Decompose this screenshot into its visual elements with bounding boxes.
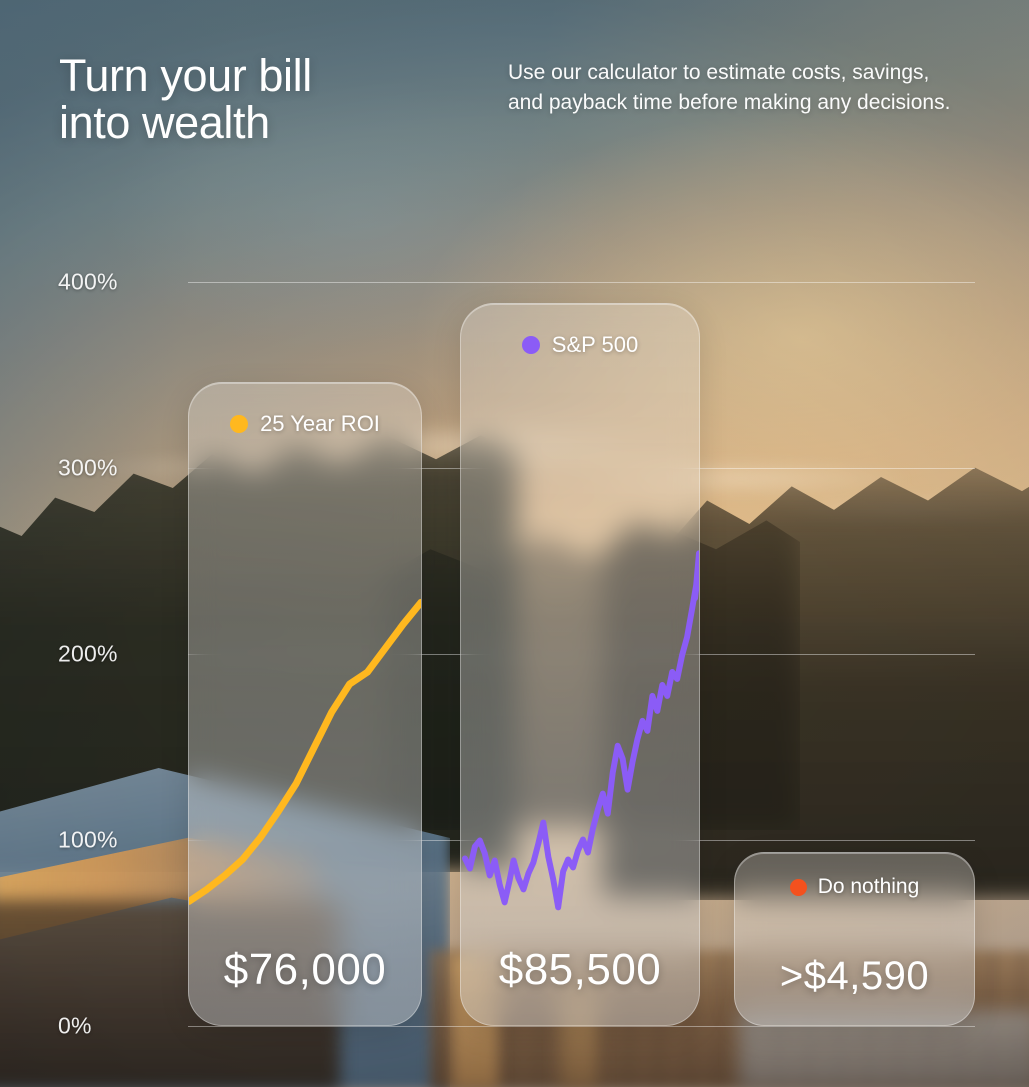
bar-card-25-year-roi[interactable]: 25 Year ROI $76,000 [188, 382, 422, 1026]
legend-dot-icon [230, 415, 248, 433]
legend-sp-500: S&P 500 [461, 332, 699, 358]
bar-card-sp-500[interactable]: S&P 500 $85,500 [460, 303, 700, 1026]
value-25-year-roi: $76,000 [189, 945, 421, 995]
legend-dot-icon [522, 336, 540, 354]
page-title: Turn your bill into wealth [59, 52, 312, 147]
legend-label: Do nothing [818, 875, 920, 899]
sp500-series-line [461, 304, 699, 1025]
gridline-0 [188, 1026, 975, 1027]
value-sp-500: $85,500 [461, 945, 699, 995]
hero-chart-panel: Turn your bill into wealth Use our calcu… [0, 0, 1029, 1087]
legend-25-year-roi: 25 Year ROI [189, 411, 421, 437]
y-axis-label-0: 0% [58, 1013, 92, 1040]
page-subtitle: Use our calculator to estimate costs, sa… [508, 58, 960, 119]
y-axis-label-400: 400% [58, 269, 118, 296]
gridline-400 [188, 282, 975, 283]
legend-do-nothing: Do nothing [735, 875, 974, 899]
sp500-polyline [465, 553, 699, 907]
y-axis-label-200: 200% [58, 641, 118, 668]
bar-card-do-nothing[interactable]: Do nothing >$4,590 [734, 852, 975, 1026]
chart-plot-area: 400% 300% 200% 100% 0% 25 Year ROI $76,0… [188, 282, 975, 1027]
y-axis-label-100: 100% [58, 827, 118, 854]
value-do-nothing: >$4,590 [735, 954, 974, 999]
roi-polyline [189, 602, 421, 901]
roi-series-line [189, 383, 421, 1025]
y-axis-label-300: 300% [58, 455, 118, 482]
legend-label: 25 Year ROI [260, 411, 380, 437]
legend-label: S&P 500 [552, 332, 638, 358]
legend-dot-icon [790, 879, 807, 896]
